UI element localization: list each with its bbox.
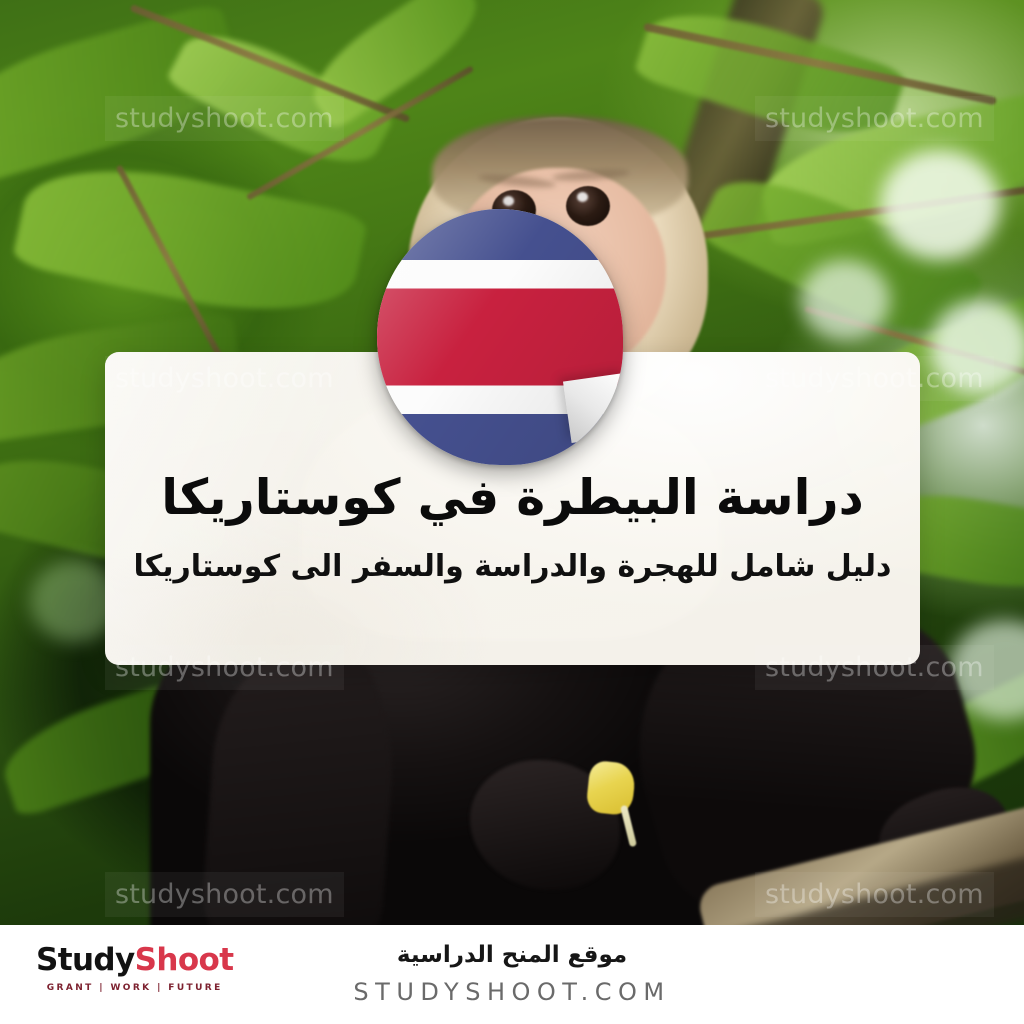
card-text-block: دراسة البيطرة في كوستاريكا دليل شامل لله… — [105, 470, 920, 585]
monkey-eye-highlight-right — [577, 192, 588, 202]
footer-website-url: STUDYSHOOT.COM — [0, 978, 1024, 1006]
footer-bar: StudyShoot GRANT | WORK | FUTURE موقع ال… — [0, 925, 1024, 1024]
footer-center-block: موقع المنح الدراسية STUDYSHOOT.COM — [0, 941, 1024, 1006]
poster-canvas: دراسة البيطرة في كوستاريكا دليل شامل لله… — [0, 0, 1024, 1024]
monkey-eye-highlight-left — [503, 196, 514, 206]
footer-arabic-tagline: موقع المنح الدراسية — [0, 941, 1024, 970]
costa-rica-flag-icon — [377, 209, 623, 465]
page-title: دراسة البيطرة في كوستاريكا — [105, 470, 920, 527]
page-subtitle: دليل شامل للهجرة والدراسة والسفر الى كوس… — [105, 549, 920, 585]
